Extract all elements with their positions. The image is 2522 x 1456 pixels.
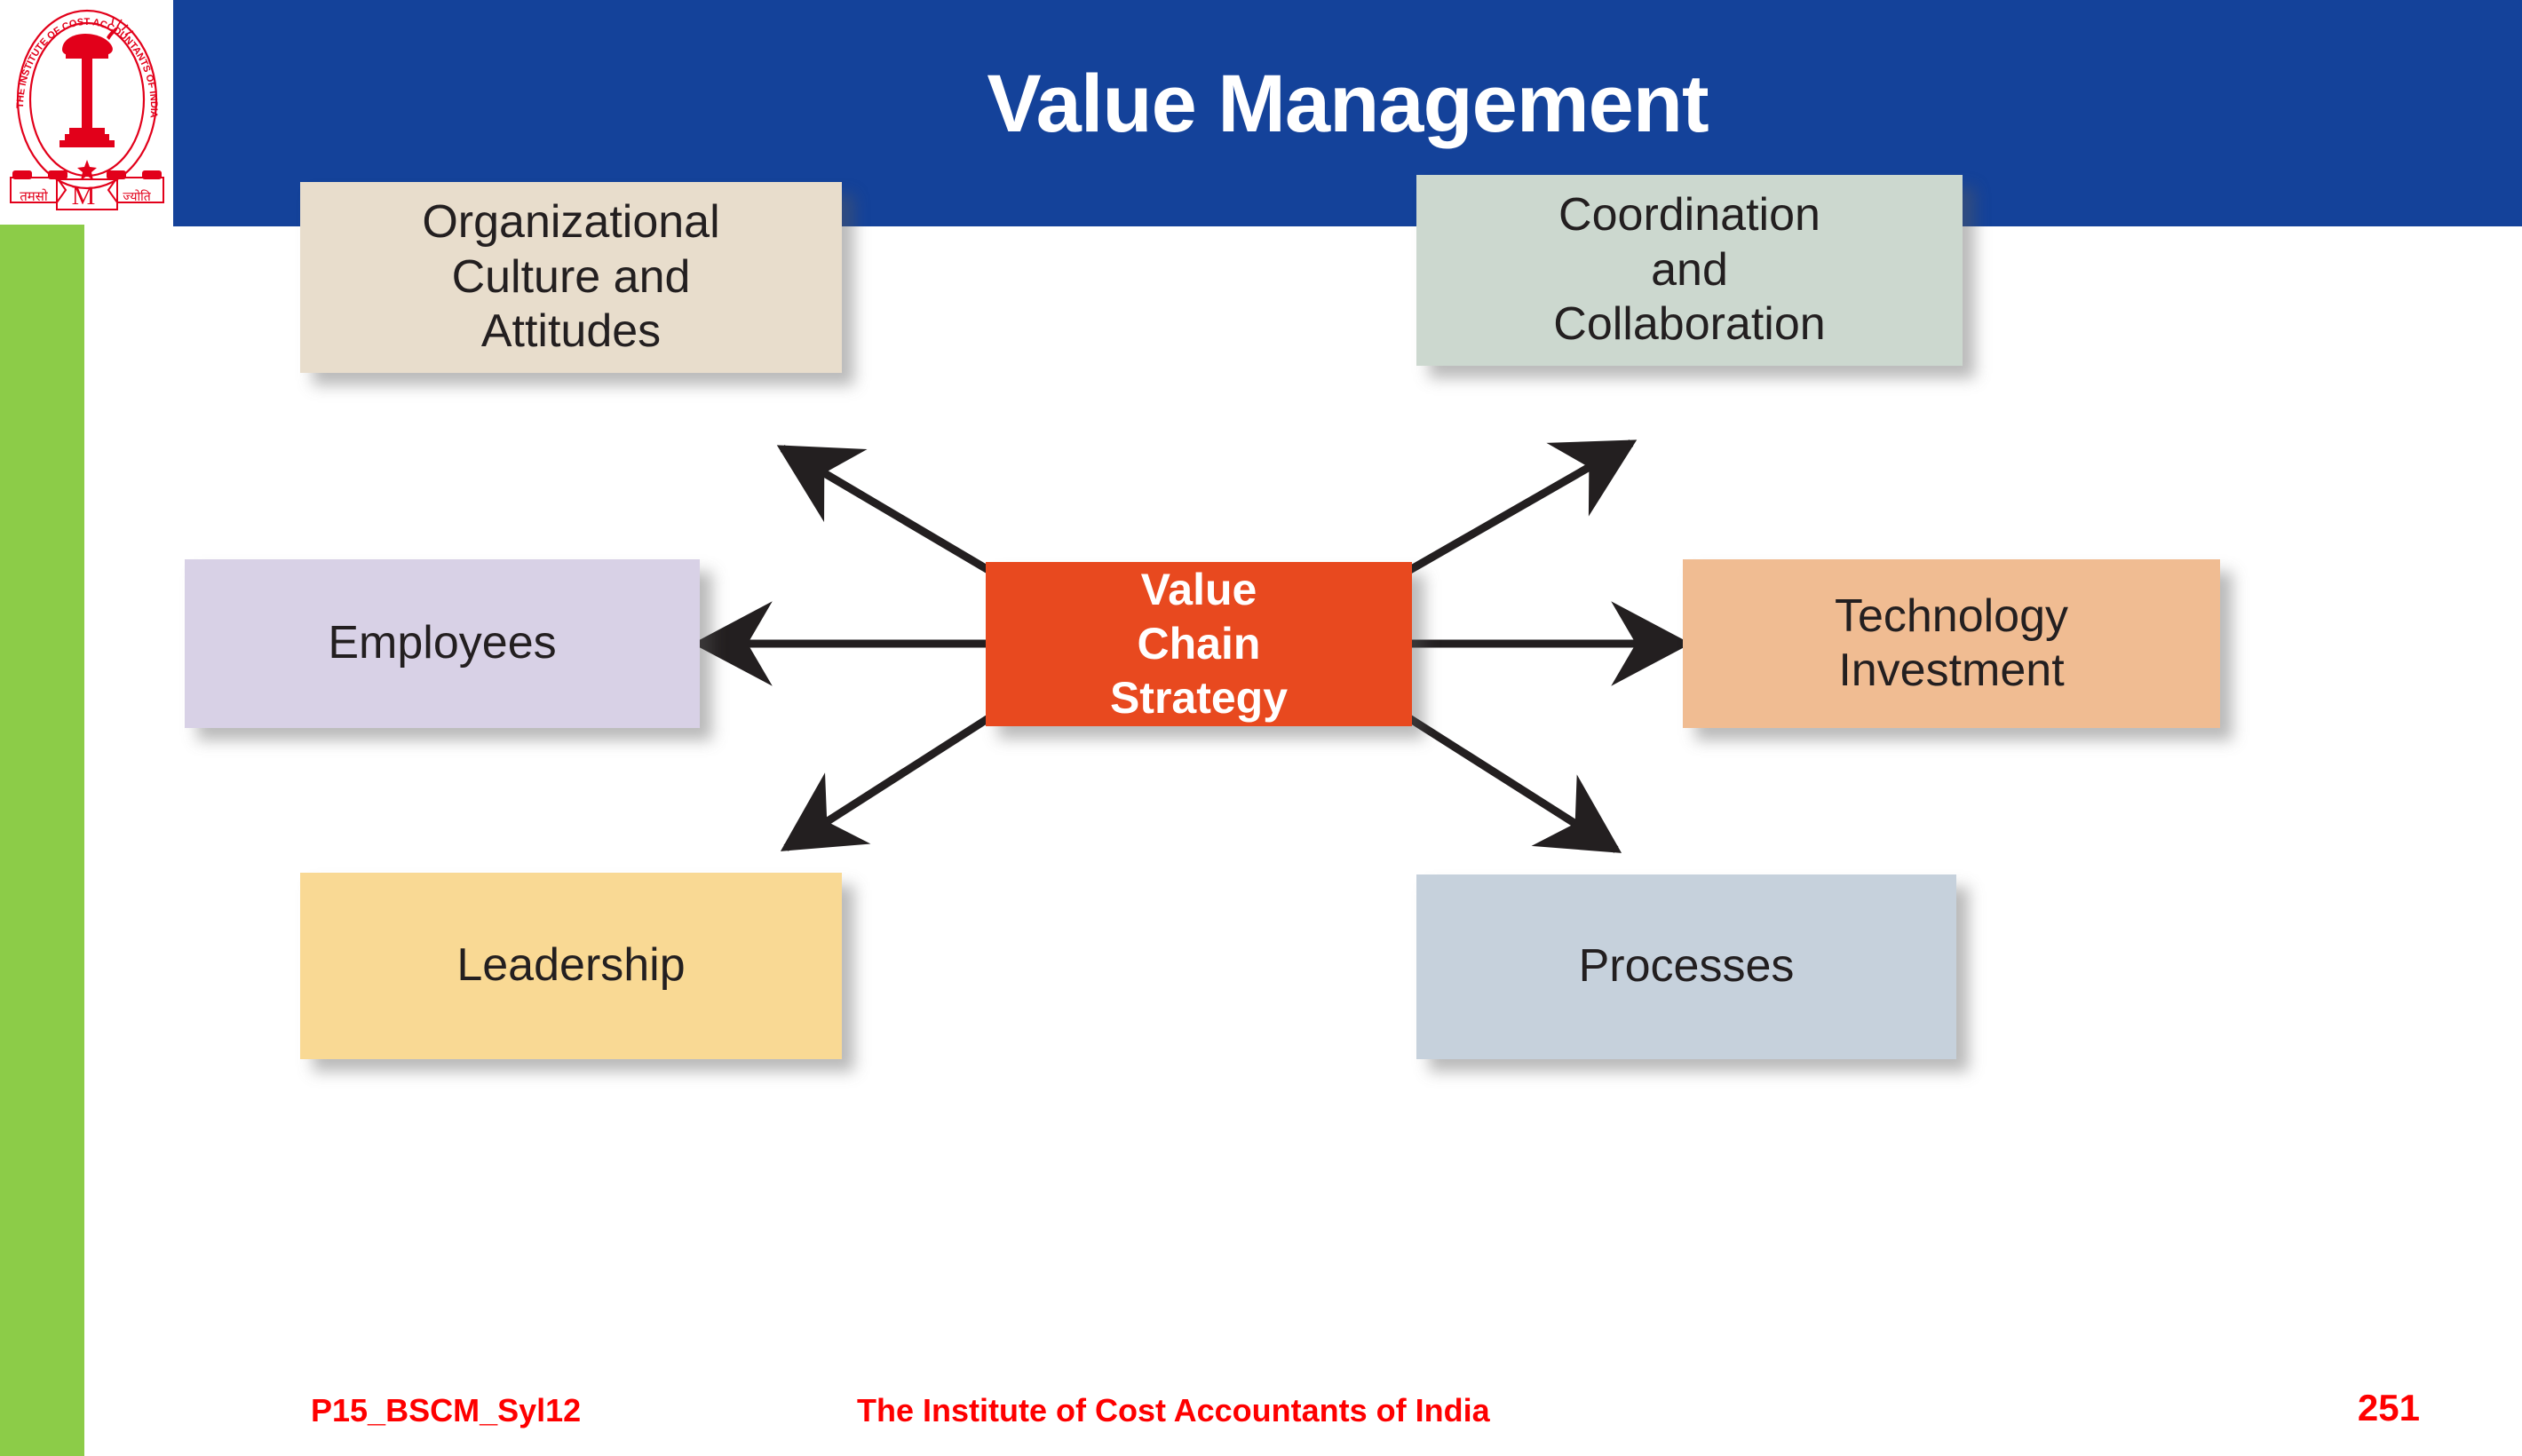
node-coordination-collaboration[interactable]: Coordination and Collaboration: [1416, 175, 1963, 366]
node-label: Organizational Culture and Attitudes: [422, 195, 719, 359]
node-processes[interactable]: Processes: [1416, 874, 1956, 1059]
svg-text:ज्योति: ज्योति: [123, 189, 151, 204]
footer-page-number: 251: [2358, 1387, 2420, 1429]
node-employees[interactable]: Employees: [185, 559, 700, 728]
arrow-connectors: [173, 226, 2522, 1336]
node-label: Employees: [328, 616, 556, 670]
svg-text:M: M: [72, 181, 96, 210]
node-label: Value Chain Strategy: [1110, 563, 1288, 725]
node-label: Coordination and Collaboration: [1553, 188, 1825, 352]
arrow-to-leadership: [786, 706, 1008, 848]
arrow-to-processes: [1390, 706, 1616, 850]
footer-organization: The Institute of Cost Accountants of Ind…: [857, 1392, 1490, 1429]
arrow-to-coordination: [1390, 443, 1631, 582]
left-accent-rail: [0, 225, 84, 1456]
node-label: Processes: [1579, 939, 1795, 993]
node-label: Leadership: [456, 938, 685, 993]
institute-logo: तमसो M ज्योति THE INSTITUTE OF COST ACCO…: [0, 0, 173, 226]
node-organizational-culture[interactable]: Organizational Culture and Attitudes: [300, 182, 842, 373]
node-leadership[interactable]: Leadership: [300, 873, 842, 1059]
node-label: Technology Investment: [1835, 590, 2068, 699]
slide-footer: P15_BSCM_Syl12 The Institute of Cost Acc…: [0, 1349, 2522, 1456]
svg-text:तमसो: तमसो: [20, 188, 49, 204]
footer-subject-code: P15_BSCM_Syl12: [311, 1392, 581, 1429]
arrow-to-organizational-culture: [782, 448, 1008, 582]
value-chain-diagram: Organizational Culture and Attitudes Coo…: [173, 226, 2522, 1336]
node-technology-investment[interactable]: Technology Investment: [1683, 559, 2220, 728]
institute-emblem-icon: तमसो M ज्योति THE INSTITUTE OF COST ACCO…: [7, 4, 167, 226]
node-value-chain-strategy[interactable]: Value Chain Strategy: [986, 562, 1412, 726]
